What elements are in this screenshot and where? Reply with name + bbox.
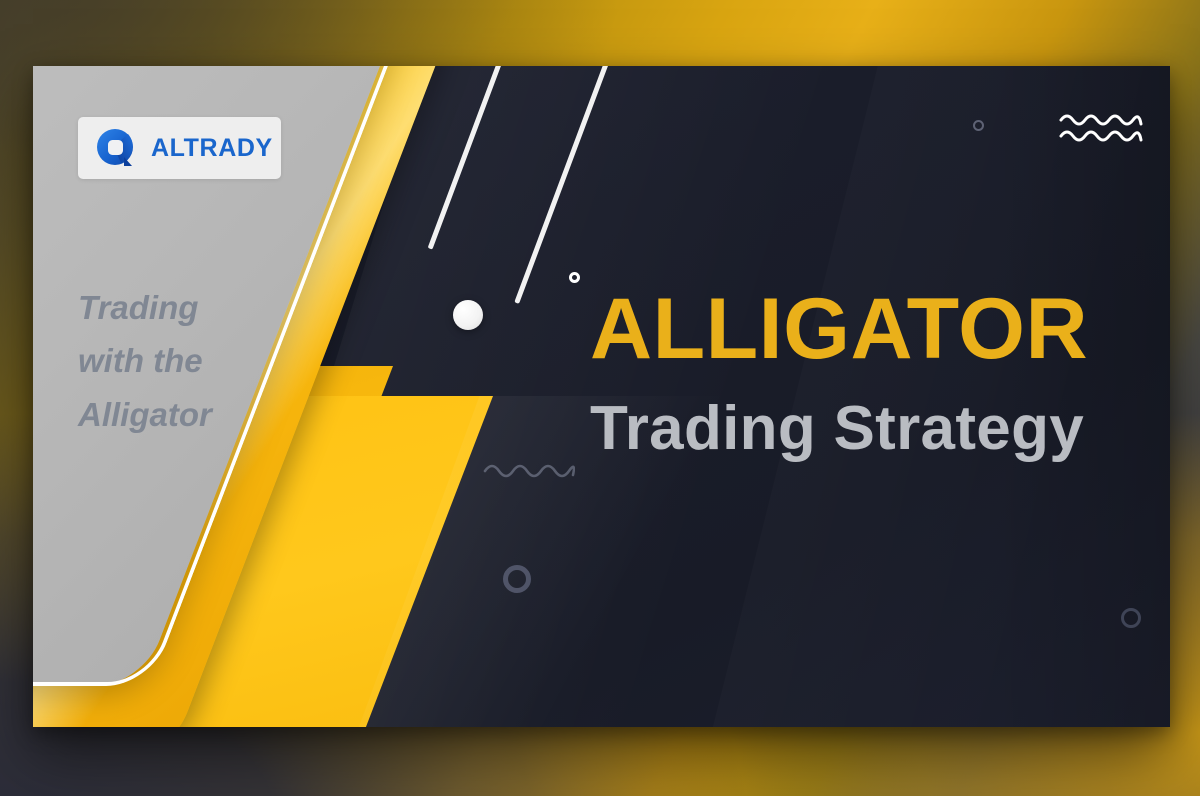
ring-icon <box>503 565 531 593</box>
page-subtitle: Trading Strategy <box>590 398 1084 460</box>
left-caption: Trading with the Alligator <box>78 281 308 441</box>
page-title: ALLIGATOR <box>590 286 1088 372</box>
altrady-logo-badge[interactable]: ALTRADY <box>78 117 281 179</box>
poster-card: ALTRADY Trading with the Alligator ALLIG… <box>33 66 1170 727</box>
ring-icon <box>973 120 984 131</box>
wavy-lines-icon <box>1059 111 1143 147</box>
left-caption-line-3: Alligator <box>78 388 308 441</box>
wavy-line-icon <box>483 458 575 482</box>
ring-icon <box>569 272 580 283</box>
poster-canvas: ALTRADY Trading with the Alligator ALLIG… <box>0 0 1200 796</box>
altrady-circle-logo-icon <box>94 126 138 170</box>
altrady-logo-text: ALTRADY <box>151 134 273 163</box>
ring-icon <box>1121 608 1141 628</box>
pin-dot-icon <box>453 300 483 330</box>
left-caption-line-1: Trading <box>78 281 308 334</box>
left-caption-line-2: with the <box>78 334 308 387</box>
